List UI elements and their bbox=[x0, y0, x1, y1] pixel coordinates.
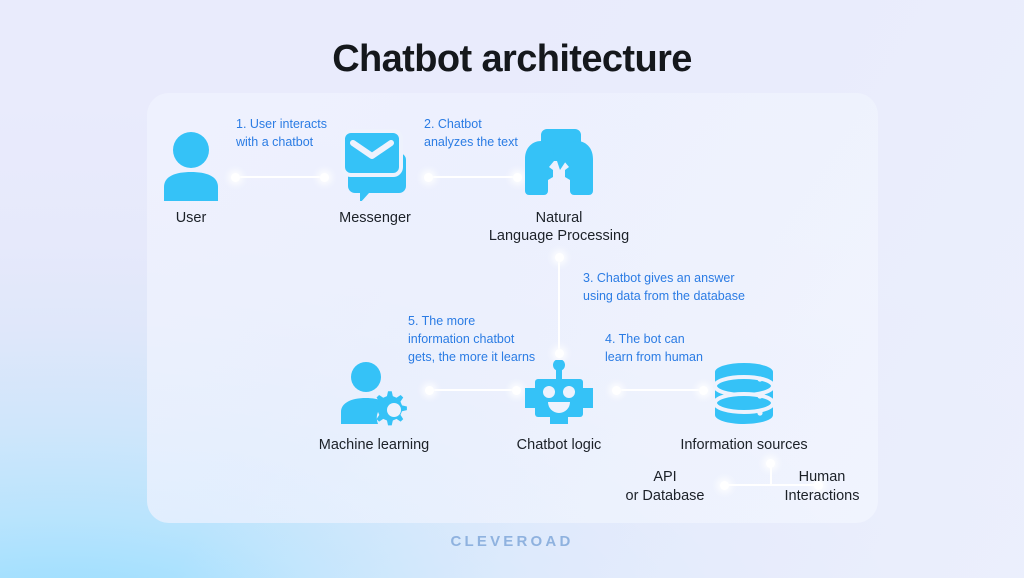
node-user-label: User bbox=[150, 209, 232, 227]
node-messenger-label: Messenger bbox=[333, 209, 417, 227]
step-4-text: 4. The bot can learn from human bbox=[605, 330, 745, 366]
page-title: Chatbot architecture bbox=[0, 38, 1024, 81]
step-2-text: 2. Chatbot analyzes the text bbox=[424, 115, 544, 151]
connector-user-messenger bbox=[231, 170, 329, 184]
node-user[interactable]: User bbox=[150, 125, 232, 227]
node-nlp-label: Natural Language Processing bbox=[463, 209, 655, 245]
user-icon bbox=[150, 125, 232, 201]
slide-canvas: Chatbot architecture User 1. User intera… bbox=[0, 0, 1024, 578]
node-chatbot-logic-label: Chatbot logic bbox=[500, 436, 618, 454]
step-1-text: 1. User interacts with a chatbot bbox=[236, 115, 346, 151]
source-api-label: API or Database bbox=[605, 468, 725, 506]
node-chatbot-logic[interactable]: Chatbot logic bbox=[500, 352, 618, 454]
node-information-sources-label: Information sources bbox=[675, 436, 813, 454]
connector-dot bbox=[766, 459, 775, 468]
step-3-text: 3. Chatbot gives an answer using data fr… bbox=[583, 269, 813, 305]
node-information-sources[interactable]: Information sources bbox=[675, 352, 813, 454]
step-5-text: 5. The more information chatbot gets, th… bbox=[408, 312, 558, 366]
node-machine-learning[interactable]: Machine learning bbox=[311, 352, 437, 454]
connector-dot bbox=[720, 481, 729, 490]
connector-line bbox=[558, 262, 560, 349]
node-machine-learning-label: Machine learning bbox=[311, 436, 437, 454]
source-human-label: Human Interactions bbox=[762, 468, 882, 506]
connector-dot bbox=[555, 253, 564, 262]
connector-line bbox=[240, 176, 320, 178]
connector-dot bbox=[320, 173, 329, 182]
connector-dot bbox=[231, 173, 240, 182]
connector-dot bbox=[424, 173, 433, 182]
brand-logo: CLEVEROAD bbox=[0, 533, 1024, 550]
